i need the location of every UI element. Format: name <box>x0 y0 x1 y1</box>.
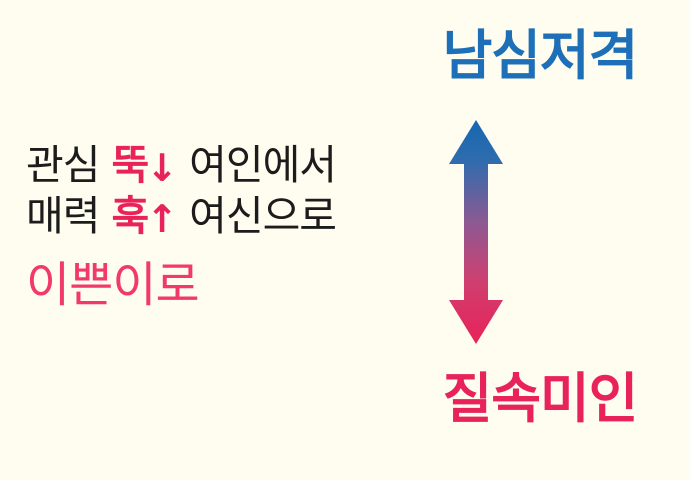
double-headed-arrow-icon <box>446 118 506 346</box>
brand-name: 이쁜이로 <box>26 256 386 314</box>
copy-line-1-lead: 관심 <box>26 141 99 189</box>
arrow-up-icon: ↑ <box>146 194 177 244</box>
copy-line-1-accent: 뚝 <box>112 141 149 189</box>
double-headed-arrow <box>446 118 506 346</box>
copy-line-2-lead: 매력 <box>26 192 99 240</box>
headline-bottom: 질속미인 <box>390 371 690 428</box>
headline-top: 남심저격 <box>390 28 690 85</box>
copy-line-2-accent: 훅 <box>112 192 149 240</box>
copy-block: 관심 뚝↓ 여인에서 매력 훅↑ 여신으로 이쁜이로 <box>26 140 386 314</box>
copy-line-2: 매력 훅↑ 여신으로 <box>26 191 386 242</box>
copy-line-2-tail: 여신으로 <box>189 192 336 240</box>
arrow-down-icon: ↓ <box>146 143 177 193</box>
copy-line-1-tail: 여인에서 <box>189 141 336 189</box>
poster-canvas: 남심저격 질속미인 관심 뚝↓ 여인에서 매력 훅↑ <box>0 0 690 480</box>
copy-line-1: 관심 뚝↓ 여인에서 <box>26 140 386 191</box>
